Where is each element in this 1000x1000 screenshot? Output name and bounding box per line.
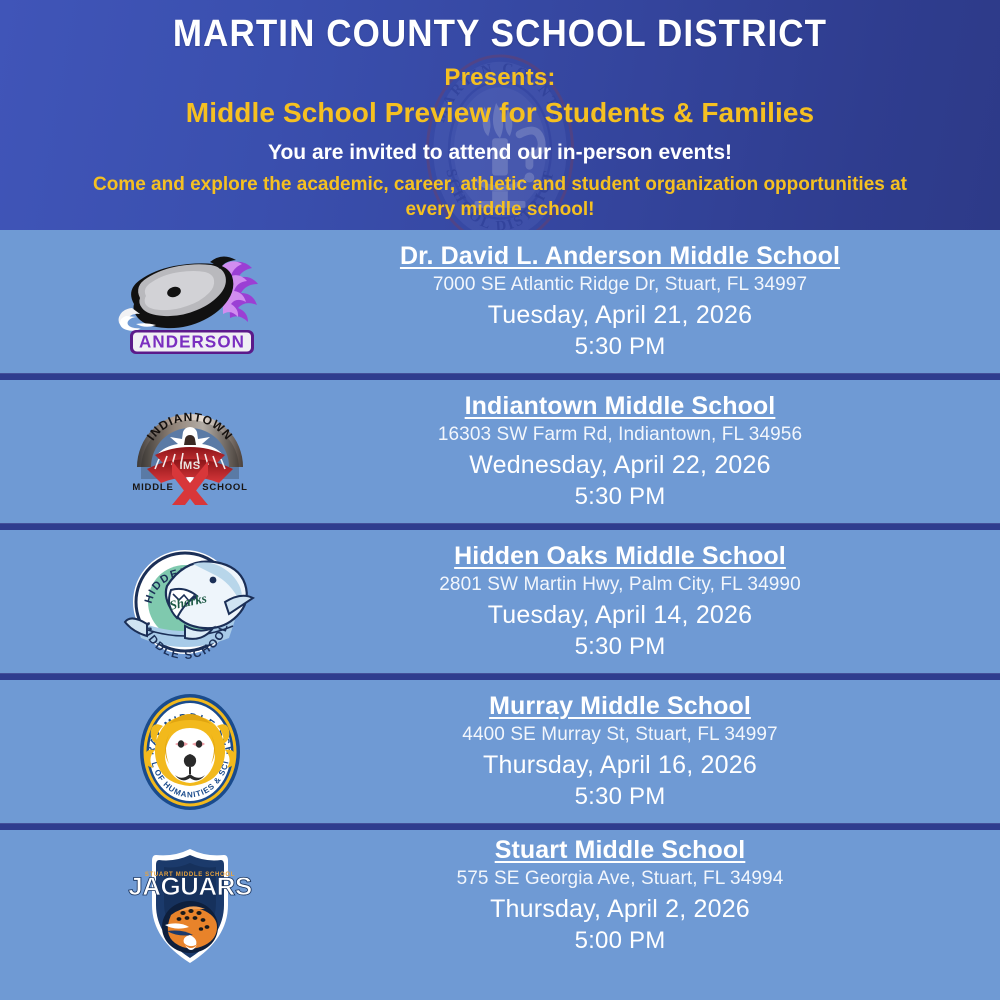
svg-text:ANDERSON: ANDERSON xyxy=(139,330,245,350)
svg-text:IMS: IMS xyxy=(179,460,200,472)
school-time: 5:30 PM xyxy=(330,483,910,511)
flyer-root: MARTIN COUNTY SCHOOL DISTRICT MARTIN COU… xyxy=(0,0,1000,1000)
school-row-stuart[interactable]: STUART MIDDLE SCHOOL JAGUARS xyxy=(0,830,1000,998)
indiantown-thunderbird-logo: INDIANTOWN IMS MID xyxy=(125,393,255,511)
district-title: MARTIN COUNTY SCHOOL DISTRICT xyxy=(40,14,960,55)
info-cell: Murray Middle School 4400 SE Murray St, … xyxy=(330,692,1000,811)
school-date: Thursday, April 2, 2026 xyxy=(330,895,910,924)
row-divider xyxy=(0,373,1000,380)
presents-label: Presents: xyxy=(0,64,1000,92)
school-row-indiantown[interactable]: INDIANTOWN IMS MID xyxy=(0,380,1000,523)
header-banner: MARTIN COUNTY SCHOOL DISTRICT MARTIN COU… xyxy=(0,0,1000,230)
murray-lion-logo: MURRAY MIDDLE SCHOOL SCHOOL OF HUMANITIE… xyxy=(129,690,251,814)
school-address: 4400 SE Murray St, Stuart, FL 34997 xyxy=(330,724,910,746)
anderson-mustang-logo: ANDERSON xyxy=(110,246,270,358)
school-address: 2801 SW Martin Hwy, Palm City, FL 34990 xyxy=(330,574,910,596)
logo-cell: HIDDEN OAKS MIDDLE SCHOOL xyxy=(0,530,330,673)
school-row-hidden-oaks[interactable]: HIDDEN OAKS MIDDLE SCHOOL xyxy=(0,530,1000,673)
hidden-oaks-shark-logo: HIDDEN OAKS MIDDLE SCHOOL xyxy=(115,542,265,662)
explore-line: Come and explore the academic, career, a… xyxy=(0,172,1000,222)
school-name: Dr. David L. Anderson Middle School xyxy=(330,242,910,270)
school-list: ANDERSON Dr. David L. Anderson Middle Sc… xyxy=(0,230,1000,998)
svg-text:MIDDLE: MIDDLE xyxy=(132,482,173,493)
event-title: Middle School Preview for Students & Fam… xyxy=(0,97,1000,129)
school-time: 5:00 PM xyxy=(330,927,910,955)
school-address: 575 SE Georgia Ave, Stuart, FL 34994 xyxy=(330,868,910,890)
info-cell: Indiantown Middle School 16303 SW Farm R… xyxy=(330,392,1000,511)
school-name: Indiantown Middle School xyxy=(330,392,910,420)
school-row-anderson[interactable]: ANDERSON Dr. David L. Anderson Middle Sc… xyxy=(0,230,1000,373)
stuart-jaguars-logo: STUART MIDDLE SCHOOL JAGUARS xyxy=(127,843,253,969)
school-time: 5:30 PM xyxy=(330,633,910,661)
school-date: Thursday, April 16, 2026 xyxy=(330,751,910,780)
logo-cell: ANDERSON xyxy=(0,230,330,373)
school-row-murray[interactable]: MURRAY MIDDLE SCHOOL SCHOOL OF HUMANITIE… xyxy=(0,680,1000,823)
school-address: 16303 SW Farm Rd, Indiantown, FL 34956 xyxy=(330,424,910,446)
info-cell: Dr. David L. Anderson Middle School 7000… xyxy=(330,242,1000,361)
school-date: Tuesday, April 21, 2026 xyxy=(330,301,910,330)
logo-cell: MURRAY MIDDLE SCHOOL SCHOOL OF HUMANITIE… xyxy=(0,680,330,823)
school-name: Murray Middle School xyxy=(330,692,910,720)
row-divider xyxy=(0,823,1000,830)
school-date: Wednesday, April 22, 2026 xyxy=(330,451,910,480)
school-name: Hidden Oaks Middle School xyxy=(330,542,910,570)
row-divider xyxy=(0,673,1000,680)
info-cell: Stuart Middle School 575 SE Georgia Ave,… xyxy=(330,836,1000,955)
logo-cell: INDIANTOWN IMS MID xyxy=(0,380,330,523)
logo-cell: STUART MIDDLE SCHOOL JAGUARS xyxy=(0,836,330,976)
header-text-block: MARTIN COUNTY SCHOOL DISTRICT Presents: … xyxy=(0,0,1000,222)
anderson-wordmark: ANDERSON xyxy=(130,330,254,354)
info-cell: Hidden Oaks Middle School 2801 SW Martin… xyxy=(330,542,1000,661)
school-name: Stuart Middle School xyxy=(330,836,910,864)
row-divider xyxy=(0,523,1000,530)
school-time: 5:30 PM xyxy=(330,333,910,361)
svg-text:SCHOOL: SCHOOL xyxy=(202,482,247,493)
svg-text:JAGUARS: JAGUARS xyxy=(128,873,252,900)
school-date: Tuesday, April 14, 2026 xyxy=(330,601,910,630)
school-address: 7000 SE Atlantic Ridge Dr, Stuart, FL 34… xyxy=(330,274,910,296)
school-time: 5:30 PM xyxy=(330,783,910,811)
invitation-line: You are invited to attend our in-person … xyxy=(0,141,1000,165)
